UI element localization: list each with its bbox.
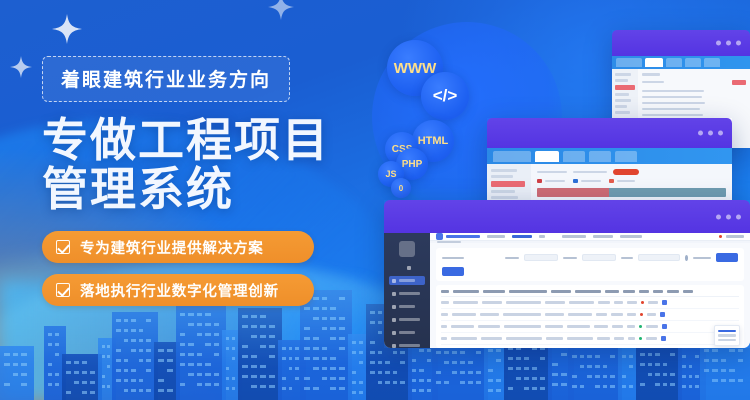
sidebar-item[interactable] [615, 79, 628, 82]
table-cell [646, 337, 657, 339]
window-titlebar [612, 30, 750, 56]
chart-bar-segment [609, 188, 726, 197]
building-window [339, 387, 345, 390]
building-window [55, 383, 59, 386]
table-cell [451, 337, 477, 339]
menu-item[interactable] [620, 235, 642, 238]
data-table [436, 285, 744, 348]
table-cell [545, 313, 564, 315]
building-window [655, 363, 660, 366]
building-window [670, 373, 675, 376]
sidebar-nav [389, 276, 425, 348]
table-header-row [441, 288, 739, 297]
user-avatar[interactable] [726, 235, 744, 238]
sidebar-item[interactable] [615, 93, 629, 96]
building-window [269, 385, 275, 388]
building-window [561, 383, 567, 386]
building-window [610, 385, 615, 388]
table-cell [441, 301, 449, 303]
building-window [205, 383, 210, 386]
table-cell [480, 313, 499, 315]
building-window [524, 357, 529, 360]
building-window [610, 375, 615, 378]
row-action-icon[interactable] [661, 336, 666, 341]
building-window [580, 385, 585, 388]
app-toolbar [430, 233, 750, 241]
table-cell [482, 301, 502, 303]
sparkle-icon-3 [268, 0, 294, 20]
building-window [488, 379, 493, 382]
table-column-header [667, 290, 679, 293]
bubble-zero: 0 [391, 178, 411, 198]
building-window [738, 379, 743, 382]
building-window [663, 363, 668, 366]
building-window [670, 353, 675, 356]
building-window [524, 387, 529, 390]
building-window [131, 389, 136, 392]
table-column-header [483, 290, 505, 293]
feature-badge[interactable]: 专为建筑行业提供解决方案 [42, 231, 314, 263]
tab-item[interactable] [704, 58, 720, 67]
table-row[interactable] [441, 321, 739, 333]
building-window [640, 363, 645, 366]
row-action-icon[interactable] [660, 312, 665, 317]
sidebar-item-active[interactable] [491, 181, 525, 187]
filter-label [442, 257, 464, 260]
table-cell [612, 325, 623, 327]
building-window [552, 383, 558, 386]
page-title: 专做工程项目 管理系统 [42, 116, 372, 214]
legend-entry [573, 179, 601, 183]
filter-label [621, 257, 633, 260]
building-window [427, 389, 431, 392]
building-window [496, 379, 501, 382]
building-window [516, 357, 521, 360]
building-window [419, 389, 423, 392]
building-window [90, 391, 95, 394]
project-management-dashboard [384, 200, 750, 348]
chevron-down-icon[interactable] [539, 235, 545, 238]
building-window [524, 377, 529, 380]
building-window [595, 385, 600, 388]
building-window [729, 369, 734, 372]
building-window [689, 385, 693, 388]
building-window [496, 349, 501, 352]
table-column-header [683, 290, 693, 293]
building-window [488, 349, 493, 352]
chart-bar-segment [537, 188, 609, 197]
checkbox-checked-icon [56, 283, 70, 297]
building-window [629, 365, 633, 368]
table-cell [567, 337, 593, 339]
building-window [622, 355, 626, 358]
building-window [610, 355, 615, 358]
building-window [682, 385, 686, 388]
building-window [682, 375, 686, 378]
tab-item[interactable] [666, 58, 682, 67]
building-window [682, 355, 686, 358]
table-cell [614, 301, 623, 303]
building-window [289, 387, 293, 390]
table-cell [441, 313, 448, 315]
building-window [580, 355, 585, 358]
building-window [603, 385, 608, 388]
table-cell [452, 313, 476, 315]
building-window [695, 355, 699, 358]
checkbox-checked-icon [56, 240, 70, 254]
filter-panel [436, 248, 744, 281]
building-window [496, 359, 501, 362]
building-window [595, 355, 600, 358]
building-window [139, 389, 144, 392]
building-window [359, 391, 363, 394]
building-window [648, 373, 653, 376]
building-window [670, 383, 675, 386]
chart-bar [537, 188, 726, 197]
building-window [561, 353, 567, 356]
building-window [689, 375, 693, 378]
building-window [712, 359, 717, 362]
sidebar [384, 233, 430, 348]
building-window [572, 385, 577, 388]
building-window [587, 375, 592, 378]
table-row[interactable] [642, 90, 704, 93]
table-cell [503, 313, 541, 315]
sparkle-icon-2 [10, 56, 32, 78]
building-window [508, 387, 513, 390]
table-cell [627, 325, 635, 327]
breadcrumb [430, 241, 750, 243]
status-badge [641, 301, 644, 304]
building-window [107, 385, 110, 388]
table-column-header [575, 290, 601, 293]
table-row[interactable] [642, 96, 702, 99]
legend-entry [609, 179, 635, 183]
building-window [704, 349, 709, 352]
feature-badge-list: 专为建筑行业提供解决方案 落地执行行业数字化管理创新 [42, 231, 372, 306]
app-logo-icon [399, 241, 415, 257]
building-window [655, 383, 660, 386]
table-cell [441, 325, 447, 327]
building-window [572, 375, 577, 378]
table-cell [568, 313, 592, 315]
app-header [612, 56, 750, 69]
building-window [695, 385, 699, 388]
building-window [532, 387, 537, 390]
row-action-icon[interactable] [662, 324, 667, 329]
building-window [260, 385, 266, 388]
building-window [540, 357, 545, 360]
filter-field[interactable] [573, 171, 607, 174]
menu-item[interactable] [593, 235, 613, 238]
building-window [580, 365, 585, 368]
window-titlebar [487, 118, 732, 148]
filter-label [537, 171, 567, 174]
search-button[interactable] [613, 169, 639, 175]
building-window [540, 377, 545, 380]
table-cell [545, 325, 563, 327]
sidebar-item-active[interactable] [389, 276, 425, 285]
building-window [508, 367, 513, 370]
building-window [412, 389, 416, 392]
sidebar-item[interactable] [491, 169, 517, 172]
building-window [214, 383, 219, 386]
table-column-header [441, 290, 449, 293]
reset-icon[interactable] [685, 255, 688, 261]
building-window [158, 389, 164, 392]
building-window [640, 353, 645, 356]
sidebar-item[interactable] [389, 302, 425, 311]
building-window [587, 355, 592, 358]
table-cell [481, 337, 502, 339]
feature-badge-label: 落地执行行业数字化管理创新 [80, 280, 279, 301]
building-window [516, 367, 521, 370]
building-window [304, 387, 310, 390]
header-logo [493, 151, 531, 162]
sidebar-item[interactable] [615, 105, 627, 108]
headline-block: 着眼建筑行业业务方向 专做工程项目 管理系统 专为建筑行业提供解决方案 落地执行… [42, 56, 372, 317]
sidebar-item[interactable] [491, 190, 515, 193]
building-window [721, 369, 726, 372]
sidebar-item[interactable] [389, 341, 425, 348]
table-cell [569, 301, 594, 303]
building-window [704, 359, 709, 362]
building-window [655, 373, 660, 376]
building-window [695, 375, 699, 378]
sidebar-item[interactable] [615, 111, 630, 114]
add-button[interactable] [442, 267, 464, 276]
legend-entry [537, 179, 565, 183]
building-window [595, 375, 600, 378]
table-cell [567, 325, 590, 327]
sidebar-item-home[interactable] [389, 263, 425, 272]
building-window [721, 359, 726, 362]
filter-select[interactable] [524, 254, 558, 261]
building-window [532, 367, 537, 370]
building-window [721, 379, 726, 382]
building-window [603, 375, 608, 378]
filter-field[interactable] [642, 81, 664, 84]
tab-item[interactable] [645, 58, 663, 67]
table-body [441, 297, 739, 345]
table-cell [627, 313, 636, 315]
table-column-header [509, 290, 547, 293]
tab-item[interactable] [535, 151, 559, 162]
sidebar-item[interactable] [389, 328, 425, 337]
table-cell [598, 301, 610, 303]
tab-item[interactable] [563, 151, 585, 162]
sidebar-item[interactable] [615, 73, 631, 76]
menu-item-active[interactable] [512, 235, 532, 238]
window-controls[interactable] [716, 214, 741, 219]
status-badge [639, 325, 642, 328]
building-window [496, 389, 501, 392]
building-window [663, 373, 668, 376]
content-label [642, 73, 660, 76]
table-cell [594, 325, 608, 327]
building-window [180, 383, 185, 386]
building-window [587, 365, 592, 368]
building-window [4, 383, 10, 386]
sidebar-item[interactable] [389, 315, 425, 324]
window-titlebar [384, 200, 750, 233]
building-window [197, 383, 202, 386]
building-window [648, 363, 653, 366]
title-line-1: 专做工程项目 [42, 114, 330, 166]
table-cell [451, 325, 474, 327]
header-logo [616, 58, 642, 67]
building-window [648, 353, 653, 356]
table-row[interactable] [642, 102, 705, 105]
building-window [251, 385, 257, 388]
feature-badge[interactable]: 落地执行行业数字化管理创新 [42, 274, 314, 306]
table-column-header [605, 290, 619, 293]
building-window [712, 369, 717, 372]
table-column-header [653, 290, 663, 293]
building-window [704, 369, 709, 372]
filter-label [693, 257, 711, 260]
table-cell [597, 337, 610, 339]
action-dropdown-menu[interactable] [714, 325, 740, 346]
notification-badge[interactable] [719, 235, 722, 238]
table-cell [596, 313, 607, 315]
building-window [622, 385, 626, 388]
building-window [540, 387, 545, 390]
sidebar-item[interactable] [389, 289, 425, 298]
building-window [682, 365, 686, 368]
table-cell [546, 337, 563, 339]
building-window [488, 369, 493, 372]
table-cell [647, 313, 656, 315]
table-column-header [623, 290, 635, 293]
table-row[interactable] [441, 297, 739, 309]
building-window [21, 383, 27, 386]
building-window [712, 379, 717, 382]
building-window [603, 365, 608, 368]
building-window [226, 387, 229, 390]
sparkle-icon-1 [52, 14, 82, 44]
window-controls[interactable] [698, 131, 723, 136]
building-window [124, 389, 129, 392]
promo-banner: 着眼建筑行业业务方向 专做工程项目 管理系统 专为建筑行业提供解决方案 落地执行… [0, 0, 750, 400]
table-cell [453, 301, 478, 303]
chart-legend [537, 179, 726, 183]
building-window [102, 385, 105, 388]
tab-item[interactable] [615, 151, 637, 162]
table-cell [506, 301, 541, 303]
building-window [622, 375, 626, 378]
building-window [232, 387, 235, 390]
sidebar-item[interactable] [491, 196, 518, 199]
app-header [487, 148, 732, 164]
table-cell [504, 325, 541, 327]
building-window [48, 383, 52, 386]
table-column-header [551, 290, 571, 293]
building-window [524, 367, 529, 370]
sidebar-item[interactable] [491, 175, 513, 178]
building-window [729, 349, 734, 352]
building-window [66, 391, 71, 394]
table-row[interactable] [441, 333, 739, 345]
building-window [516, 377, 521, 380]
building-window [146, 389, 151, 392]
window-controls[interactable] [716, 41, 741, 46]
sidebar-item-active[interactable] [615, 85, 635, 90]
building-window [738, 359, 743, 362]
search-button[interactable] [716, 253, 738, 262]
building-window [167, 389, 173, 392]
search-button[interactable] [732, 80, 746, 85]
feature-badge-label: 专为建筑行业提供解决方案 [80, 237, 264, 258]
building-window [508, 357, 513, 360]
table-cell [506, 337, 542, 339]
eyebrow-tagline: 着眼建筑行业业务方向 [42, 56, 290, 102]
filter-label [563, 257, 577, 260]
table-row[interactable] [642, 114, 703, 117]
table-column-header [453, 290, 479, 293]
building-window [663, 383, 668, 386]
menu-item[interactable] [487, 235, 505, 238]
building-window [552, 363, 558, 366]
filter-label [505, 257, 519, 260]
building-window [552, 373, 558, 376]
table-cell [627, 301, 637, 303]
app-brand [436, 233, 480, 240]
table-column-header [639, 290, 649, 293]
building-window [595, 365, 600, 368]
building-window [330, 387, 336, 390]
table-cell [628, 337, 635, 339]
main-panel [430, 233, 750, 348]
building-window [729, 379, 734, 382]
building-window [655, 353, 660, 356]
building-window [282, 387, 286, 390]
app-window [384, 233, 750, 348]
tab-item[interactable] [685, 58, 701, 67]
table-cell [648, 301, 658, 303]
table-row[interactable] [642, 108, 700, 111]
table-row[interactable] [441, 309, 739, 321]
building-window [488, 389, 493, 392]
building-window [352, 391, 356, 394]
table-cell [646, 325, 658, 327]
building-window [572, 355, 577, 358]
table-cell [478, 325, 500, 327]
table-cell [441, 337, 447, 339]
table-cell [611, 313, 623, 315]
building-window [476, 351, 481, 354]
row-action-icon[interactable] [662, 300, 667, 305]
building-window [82, 391, 87, 394]
building-window [712, 349, 717, 352]
building-window [629, 385, 633, 388]
building-window [532, 377, 537, 380]
table-cell [614, 337, 624, 339]
building-window [629, 355, 633, 358]
status-badge [639, 337, 642, 340]
table-cell [545, 301, 565, 303]
tab-item[interactable] [589, 151, 611, 162]
status-badge [640, 313, 643, 316]
bubble-code: </> [421, 72, 469, 120]
building-window [561, 373, 567, 376]
menu-item[interactable] [562, 235, 586, 238]
building-window [640, 383, 645, 386]
sidebar-item[interactable] [615, 99, 631, 102]
building-window [313, 387, 319, 390]
filter-input[interactable] [638, 254, 680, 261]
filter-select[interactable] [582, 254, 616, 261]
